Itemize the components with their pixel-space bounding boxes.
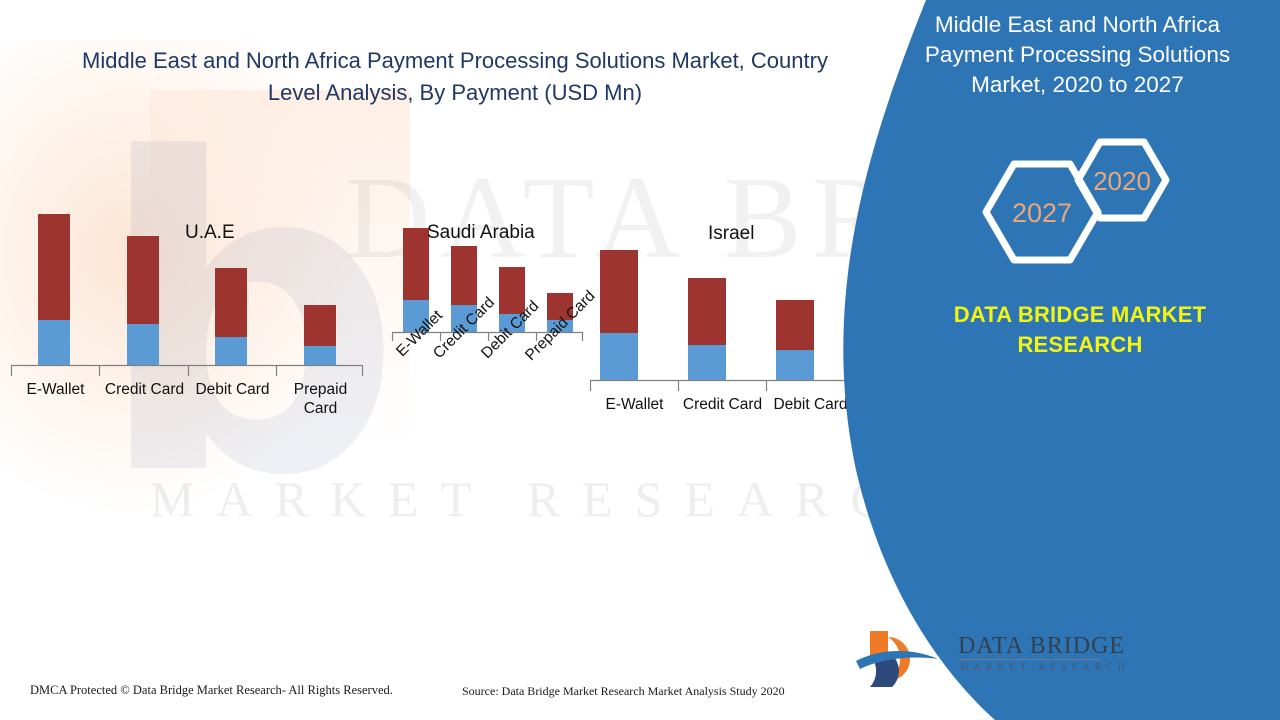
bar-segment-2027: [776, 300, 814, 350]
bar-segment-2019: [38, 320, 70, 365]
bar-segment-2027: [451, 246, 477, 305]
bar-segment-2027: [688, 278, 726, 345]
data-bridge-logo-rule: [960, 659, 1100, 660]
chart-saudi-arabia-title: Saudi Arabia: [427, 222, 535, 244]
data-bridge-logo-subtitle: MARKET RESEARCH: [960, 663, 1130, 673]
infographic-canvas: b DATA BRIDGE MARKET RESEARCH Middle Eas…: [0, 0, 1280, 720]
chart-uae-title: U.A.E: [185, 222, 235, 244]
chart-uae-category-label: Credit Card: [100, 380, 189, 399]
chart-israel-category-label: Credit Card: [678, 395, 767, 414]
chart-uae-category-label: E-Wallet: [11, 380, 100, 399]
bar-segment-2027: [304, 305, 336, 346]
bar-segment-2019: [127, 324, 159, 365]
data-bridge-logo[interactable]: DATA BRIDGE MARKET RESEARCH: [850, 625, 1110, 693]
chart-israel-title: Israel: [708, 223, 754, 245]
bar-segment-2019: [215, 337, 247, 365]
page-title: Middle East and North Africa Payment Pro…: [60, 45, 850, 109]
hexagon-badges: 2027 2020: [950, 130, 1270, 290]
brand-headline: DATA BRIDGE MARKET RESEARCH: [905, 300, 1255, 360]
right-brand-panel-content: Middle East and North Africa Payment Pro…: [820, 0, 1280, 720]
axis-uae: [11, 366, 363, 377]
chart-uae-category-label: Debit Card: [188, 380, 277, 399]
hexagon-badges-svg: 2027 2020: [950, 130, 1270, 295]
data-bridge-logo-name: DATA BRIDGE: [958, 633, 1125, 660]
bar-segment-2027: [38, 214, 70, 320]
chart-saudi-arabia: Saudi Arabia E-Wallet Credit Card Debit …: [385, 200, 590, 345]
chart-israel-category-label: E-Wallet: [590, 395, 679, 414]
bar-segment-2027: [403, 228, 429, 300]
data-bridge-logo-mark-icon: [850, 625, 950, 693]
chart-uae-plot: [0, 150, 380, 380]
chart-uae: U.A.E E-Wallet Credit Card Debit Card Pr…: [0, 150, 380, 380]
bar-segment-2019: [304, 346, 336, 365]
bar-segment-2019: [688, 345, 726, 380]
bar-segment-2027: [600, 250, 638, 333]
bar-segment-2019: [600, 333, 638, 380]
chart-uae-category-label: Prepaid Card: [276, 380, 365, 418]
panel-title: Middle East and North Africa Payment Pro…: [890, 10, 1265, 100]
footer-copyright: DMCA Protected © Data Bridge Market Rese…: [30, 683, 393, 698]
bar-segment-2027: [215, 268, 247, 337]
bar-segment-2019: [776, 350, 814, 380]
bar-segment-2027: [127, 236, 159, 324]
hexagon-2027-label: 2027: [1012, 198, 1072, 228]
hexagon-2020-label: 2020: [1093, 166, 1151, 196]
footer-source: Source: Data Bridge Market Research Mark…: [462, 684, 785, 699]
